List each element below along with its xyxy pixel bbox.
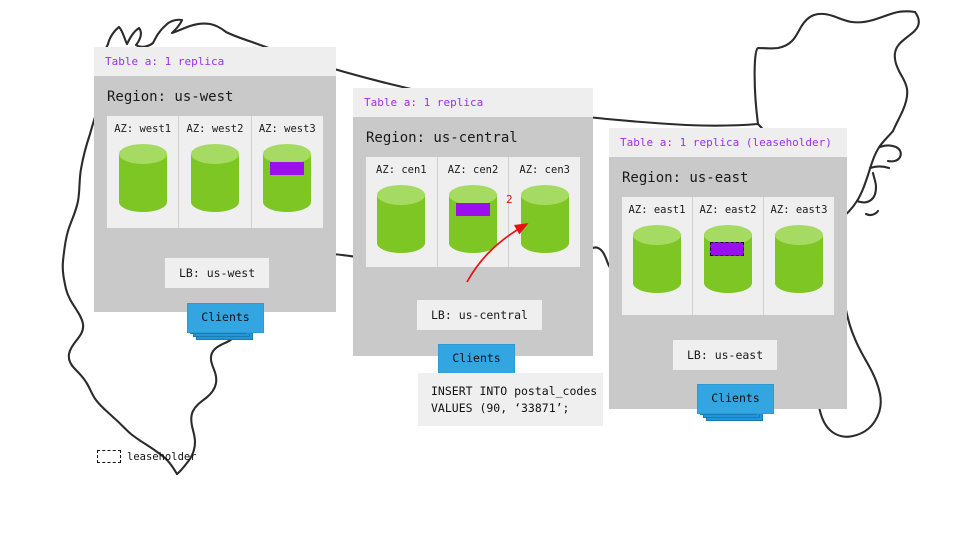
routing-arrow bbox=[455, 190, 550, 290]
region-card-us-west: Table a: 1 replica Region: us-west AZ: w… bbox=[94, 47, 336, 312]
node-cylinder-west1[interactable] bbox=[117, 142, 169, 214]
load-balancer-us-central[interactable]: LB: us-central bbox=[417, 300, 542, 330]
az-cell-west3[interactable]: AZ: west3 bbox=[252, 116, 323, 228]
load-balancer-us-east[interactable]: LB: us-east bbox=[673, 340, 777, 370]
legend: leaseholder bbox=[97, 450, 197, 463]
region-replica-header: Table a: 1 replica bbox=[94, 47, 336, 76]
legend-label: leaseholder bbox=[127, 451, 197, 463]
az-label: AZ: cen1 bbox=[366, 164, 437, 176]
region-replica-header: Table a: 1 replica bbox=[353, 88, 593, 117]
az-cell-west2[interactable]: AZ: west2 bbox=[179, 116, 251, 228]
node-cylinder-east1[interactable] bbox=[631, 223, 683, 295]
az-label: AZ: cen2 bbox=[438, 164, 509, 176]
dashed-rect-icon bbox=[97, 450, 121, 463]
az-label: AZ: east3 bbox=[764, 204, 834, 216]
region-card-us-east: Table a: 1 replica (leaseholder) Region:… bbox=[609, 128, 847, 409]
az-label: AZ: west2 bbox=[179, 123, 250, 135]
replica-range-marker bbox=[270, 162, 304, 175]
arrow-step-label: 2 bbox=[506, 193, 513, 206]
az-label: AZ: east2 bbox=[693, 204, 763, 216]
leaseholder-range-marker bbox=[710, 242, 744, 256]
diagram-canvas: Table a: 1 replica Region: us-west AZ: w… bbox=[0, 0, 960, 540]
az-label: AZ: west1 bbox=[107, 123, 178, 135]
sql-statement-box: INSERT INTO postal_codes VALUES (90, ‘33… bbox=[418, 373, 603, 426]
load-balancer-us-west[interactable]: LB: us-west bbox=[165, 258, 269, 288]
node-cylinder-east3[interactable] bbox=[773, 223, 825, 295]
region-title: Region: us-west bbox=[94, 76, 336, 116]
clients-button[interactable]: Clients bbox=[187, 303, 264, 333]
az-cell-east3[interactable]: AZ: east3 bbox=[764, 197, 834, 315]
node-cylinder-east2[interactable] bbox=[702, 223, 754, 295]
region-body: Region: us-west AZ: west1 AZ: west2 bbox=[94, 76, 336, 312]
az-cell-east2[interactable]: AZ: east2 bbox=[693, 197, 764, 315]
az-label: AZ: east1 bbox=[622, 204, 692, 216]
clients-button[interactable]: Clients bbox=[438, 344, 515, 374]
node-cylinder-west3[interactable] bbox=[261, 142, 313, 214]
clients-stack-us-west: Clients bbox=[187, 303, 251, 338]
region-title: Region: us-east bbox=[609, 157, 847, 197]
az-cell-cen1[interactable]: AZ: cen1 bbox=[366, 157, 438, 267]
region-title: Region: us-central bbox=[353, 117, 593, 157]
az-label: AZ: cen3 bbox=[509, 164, 580, 176]
region-body: Region: us-east AZ: east1 AZ: east2 bbox=[609, 157, 847, 409]
node-cylinder-cen1[interactable] bbox=[375, 183, 427, 255]
az-row: AZ: west1 AZ: west2 bbox=[107, 116, 323, 228]
node-cylinder-west2[interactable] bbox=[189, 142, 241, 214]
az-cell-west1[interactable]: AZ: west1 bbox=[107, 116, 179, 228]
az-cell-east1[interactable]: AZ: east1 bbox=[622, 197, 693, 315]
clients-stack-us-east: Clients bbox=[697, 384, 761, 419]
az-row: AZ: east1 AZ: east2 bbox=[622, 197, 834, 315]
az-label: AZ: west3 bbox=[252, 123, 323, 135]
clients-button[interactable]: Clients bbox=[697, 384, 774, 414]
region-replica-header: Table a: 1 replica (leaseholder) bbox=[609, 128, 847, 157]
